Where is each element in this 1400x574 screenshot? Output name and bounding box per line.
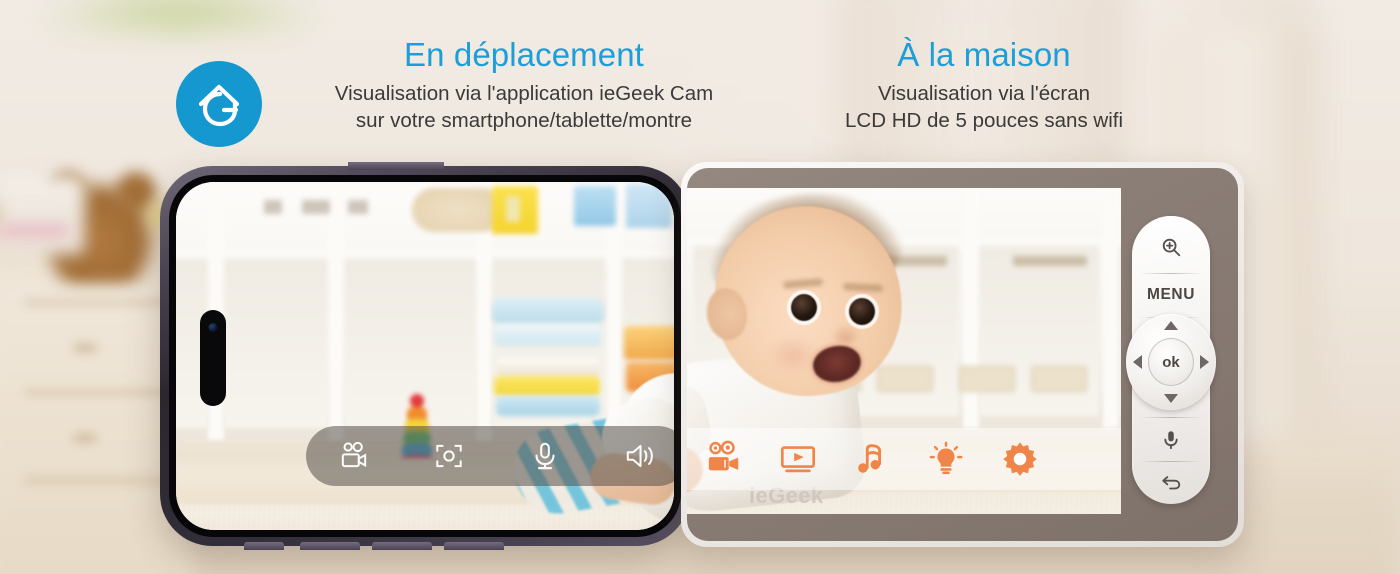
desc-on-the-go-line1: Visualisation via l'application ieGeek C… xyxy=(278,80,770,107)
heading-at-home: À la maison xyxy=(786,36,1182,75)
app-overlay-toolbar xyxy=(306,426,674,486)
scene-shelf-divider xyxy=(1103,188,1119,428)
heading-on-the-go: En déplacement xyxy=(278,36,770,75)
desc-on-the-go-line2: sur votre smartphone/tablette/montre xyxy=(278,107,770,134)
scene-book-detail xyxy=(506,196,520,222)
scene-folded-blanket xyxy=(494,324,602,346)
gear-settings-icon[interactable] xyxy=(1001,440,1039,478)
phone-dynamic-island xyxy=(200,310,226,406)
media-play-icon[interactable] xyxy=(779,440,817,478)
zoom-in-magnifier-icon xyxy=(1160,236,1182,258)
video-record-icon[interactable] xyxy=(337,439,371,473)
baby-monitor-device: ieGeek MENU ok xyxy=(681,162,1244,547)
video-camera-icon[interactable] xyxy=(705,440,743,478)
column-on-the-go: En déplacement Visualisation via l'appli… xyxy=(278,36,770,134)
ok-button[interactable]: ok xyxy=(1148,338,1194,386)
column-at-home: À la maison Visualisation via l'écran LC… xyxy=(786,36,1182,134)
background-drawer-knob xyxy=(72,343,98,353)
desc-at-home-line2: LCD HD de 5 pouces sans wifi xyxy=(786,107,1182,134)
microphone-icon[interactable] xyxy=(528,439,562,473)
scene-drawer-box xyxy=(959,366,1015,392)
phone-volume-button[interactable] xyxy=(372,542,432,550)
background-drawer-knob xyxy=(72,433,98,443)
scene-shelf-cell xyxy=(1119,246,1121,416)
phone-side-button[interactable] xyxy=(244,542,284,550)
scene-drawer-box xyxy=(1031,366,1087,392)
arrow-left-icon[interactable] xyxy=(1133,355,1142,369)
background-jar xyxy=(0,175,85,255)
smartphone-device xyxy=(160,166,690,546)
speaker-volume-icon[interactable] xyxy=(623,439,657,473)
desc-at-home-line1: Visualisation via l'écran xyxy=(786,80,1182,107)
baby-cheek xyxy=(769,336,817,374)
monitor-overlay-toolbar xyxy=(687,428,1121,490)
scene-shelf-cell xyxy=(224,258,328,428)
scene-shelf-edge xyxy=(1013,256,1087,266)
scene-folded-blanket xyxy=(492,298,604,324)
light-bulb-icon[interactable] xyxy=(927,440,965,478)
baby-nose xyxy=(831,324,861,344)
scene-shelf-label xyxy=(302,200,330,214)
header-section: En déplacement Visualisation via l'appli… xyxy=(0,0,1400,165)
house-g-logo-icon xyxy=(191,76,247,132)
scene-shelf-label xyxy=(348,200,368,214)
direction-pad[interactable]: ok xyxy=(1126,314,1216,410)
iegeek-home-logo xyxy=(176,61,262,147)
phone-side-button[interactable] xyxy=(348,162,444,170)
phone-volume-button[interactable] xyxy=(444,542,504,550)
phone-front-camera xyxy=(209,323,218,332)
scene-shelf-divider xyxy=(328,182,344,440)
scene-shelf-divider xyxy=(963,188,979,428)
scene-shelf-label xyxy=(264,200,282,214)
phone-bezel xyxy=(169,175,681,537)
talk-microphone-button[interactable] xyxy=(1136,418,1206,462)
scene-basket xyxy=(412,188,504,232)
zoom-in-button[interactable] xyxy=(1136,222,1206,272)
microphone-icon xyxy=(1160,429,1182,451)
monitor-body: ieGeek MENU ok xyxy=(687,168,1238,541)
scene-folded-blanket xyxy=(496,358,600,376)
arrow-up-icon[interactable] xyxy=(1164,321,1178,330)
baby-eye xyxy=(849,298,875,325)
menu-button[interactable]: MENU xyxy=(1136,274,1206,316)
baby-eye xyxy=(791,294,817,321)
phone-screen xyxy=(176,182,674,530)
background-jar-lid xyxy=(0,224,70,238)
phone-volume-button[interactable] xyxy=(300,542,360,550)
scene-folded-blanket xyxy=(494,376,600,396)
arrow-right-icon[interactable] xyxy=(1200,355,1209,369)
back-button[interactable] xyxy=(1136,462,1206,504)
back-arrow-icon xyxy=(1160,472,1182,494)
monitor-screen: ieGeek xyxy=(687,188,1121,514)
music-note-icon[interactable] xyxy=(853,440,891,478)
arrow-down-icon[interactable] xyxy=(1164,394,1178,403)
monitor-control-pad: MENU ok xyxy=(1132,216,1210,504)
scene-folded-blanket xyxy=(496,396,600,416)
snapshot-frame-icon[interactable] xyxy=(432,439,466,473)
